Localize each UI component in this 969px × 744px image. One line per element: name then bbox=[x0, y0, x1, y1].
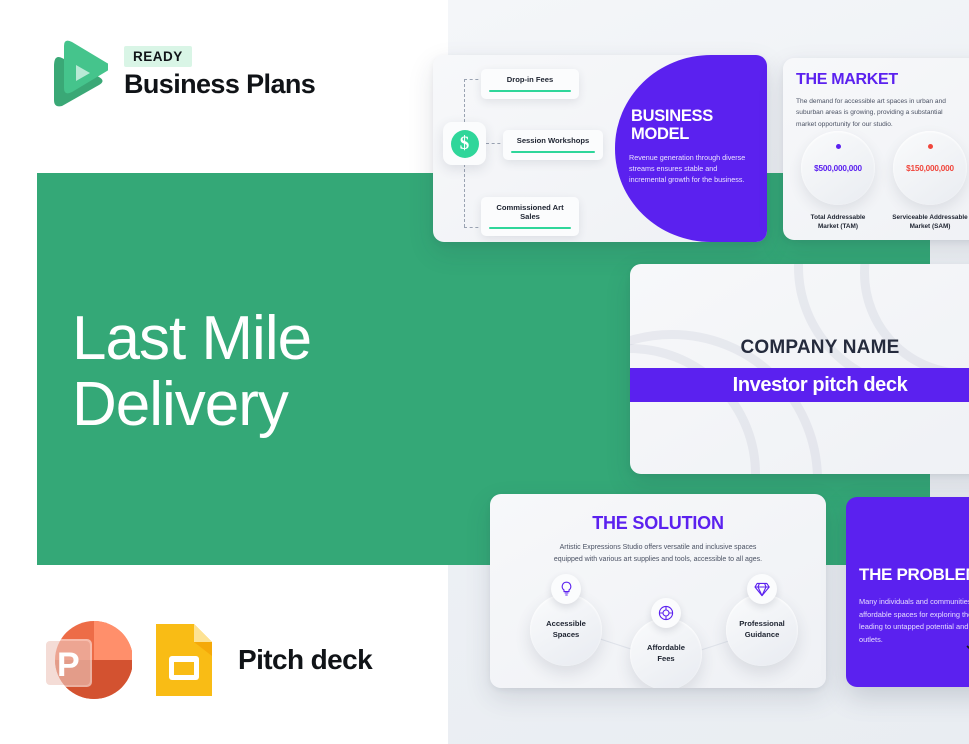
market-metric-circle: $500,000,000 bbox=[801, 131, 875, 205]
brand-name: Business Plans bbox=[124, 69, 315, 100]
slide-title-company: COMPANY NAME bbox=[630, 337, 969, 359]
market-metric-caption: Serviceable Addressable Market (SAM) bbox=[882, 213, 969, 232]
slide-title-line-2: MODEL bbox=[631, 125, 755, 143]
brand-logo: READY Business Plans bbox=[42, 36, 315, 110]
slide-description-market: The demand for accessible art spaces in … bbox=[796, 96, 952, 130]
solution-item-label-2: Guidance bbox=[739, 630, 785, 641]
slide-subtitle-company: Investor pitch deck bbox=[733, 374, 908, 397]
page-title-line-2: Delivery bbox=[72, 372, 422, 438]
solution-item-label-1: Professional bbox=[739, 619, 785, 630]
market-metric-caption: Total Addressable Market (TAM) bbox=[790, 213, 886, 232]
powerpoint-icon: P bbox=[40, 617, 132, 703]
caption-line-1: Serviceable Addressable bbox=[882, 213, 969, 222]
slide-description-solution: Artistic Expressions Studio offers versa… bbox=[552, 542, 764, 566]
metric-dot bbox=[928, 144, 933, 149]
play-triangle-logo-icon bbox=[42, 36, 108, 110]
filetype-label: Pitch deck bbox=[238, 644, 372, 676]
slide-description-problem: Many individuals and communities lack ac… bbox=[859, 596, 969, 647]
caption-line-2: Market (SAM) bbox=[882, 222, 969, 231]
underline-accent bbox=[489, 227, 571, 229]
business-model-item-label: Session Workshops bbox=[511, 136, 595, 145]
business-model-item-label: Commissioned Art Sales bbox=[489, 203, 571, 221]
coin-target-icon bbox=[651, 598, 681, 628]
brand-text: READY Business Plans bbox=[124, 46, 315, 100]
market-metric-circle: $150,000,000 bbox=[893, 131, 967, 205]
page-title-line-1: Last Mile bbox=[72, 306, 422, 372]
caption-line-2: Market (TAM) bbox=[790, 222, 886, 231]
business-model-item[interactable]: Drop-in Fees bbox=[481, 69, 579, 99]
slide-card-market[interactable]: THE MARKET The demand for accessible art… bbox=[783, 58, 969, 240]
slide-card-company[interactable]: COMPANY NAME Investor pitch deck bbox=[630, 264, 969, 474]
caption-line-1: Total Addressable bbox=[790, 213, 886, 222]
slide-title-market: THE MARKET bbox=[796, 71, 898, 89]
dollar-sign-badge: $ bbox=[443, 122, 486, 165]
business-model-item[interactable]: Commissioned Art Sales bbox=[481, 197, 579, 236]
google-slides-icon bbox=[152, 622, 216, 698]
slide-card-solution[interactable]: THE SOLUTION Artistic Expressions Studio… bbox=[490, 494, 826, 688]
metric-dot bbox=[836, 144, 841, 149]
solution-item[interactable]: Professional Guidance bbox=[726, 594, 798, 666]
slide-card-business-model[interactable]: $ Drop-in Fees Session Workshops Commiss… bbox=[433, 55, 767, 242]
underline-accent bbox=[511, 151, 595, 153]
investor-pitch-band: Investor pitch deck bbox=[630, 368, 969, 402]
lightbulb-icon bbox=[551, 574, 581, 604]
slide-title-business-model: BUSINESS MODEL bbox=[631, 107, 755, 144]
market-metric-value: $150,000,000 bbox=[906, 164, 954, 173]
dollar-sign-icon: $ bbox=[451, 130, 479, 158]
slide-description-business-model: Revenue generation through diverse strea… bbox=[629, 152, 755, 185]
solution-item-label-1: Affordable bbox=[647, 643, 685, 654]
solution-item-label-2: Fees bbox=[647, 654, 685, 665]
svg-text:P: P bbox=[57, 646, 80, 684]
solution-item-label-1: Accessible bbox=[546, 619, 586, 630]
solution-item-label-2: Spaces bbox=[546, 630, 586, 641]
business-model-item-label: Drop-in Fees bbox=[489, 75, 571, 84]
diamond-icon bbox=[747, 574, 777, 604]
underline-accent bbox=[489, 90, 571, 92]
purple-blob-shape bbox=[615, 55, 767, 242]
filetype-row: P Pitch deck bbox=[40, 617, 372, 703]
ready-badge: READY bbox=[124, 46, 192, 67]
slide-title-solution: THE SOLUTION bbox=[490, 513, 826, 534]
slide-title-line-1: BUSINESS bbox=[631, 107, 755, 125]
slide-title-problem: THE PROBLEM bbox=[859, 565, 969, 585]
page-title: Last Mile Delivery bbox=[72, 306, 422, 439]
slide-card-problem[interactable]: THE PROBLEM Many individuals and communi… bbox=[846, 497, 969, 687]
business-model-item[interactable]: Session Workshops bbox=[503, 130, 603, 160]
solution-item[interactable]: Accessible Spaces bbox=[530, 594, 602, 666]
market-metric-value: $500,000,000 bbox=[814, 164, 862, 173]
solution-item[interactable]: Affordable Fees bbox=[630, 618, 702, 688]
